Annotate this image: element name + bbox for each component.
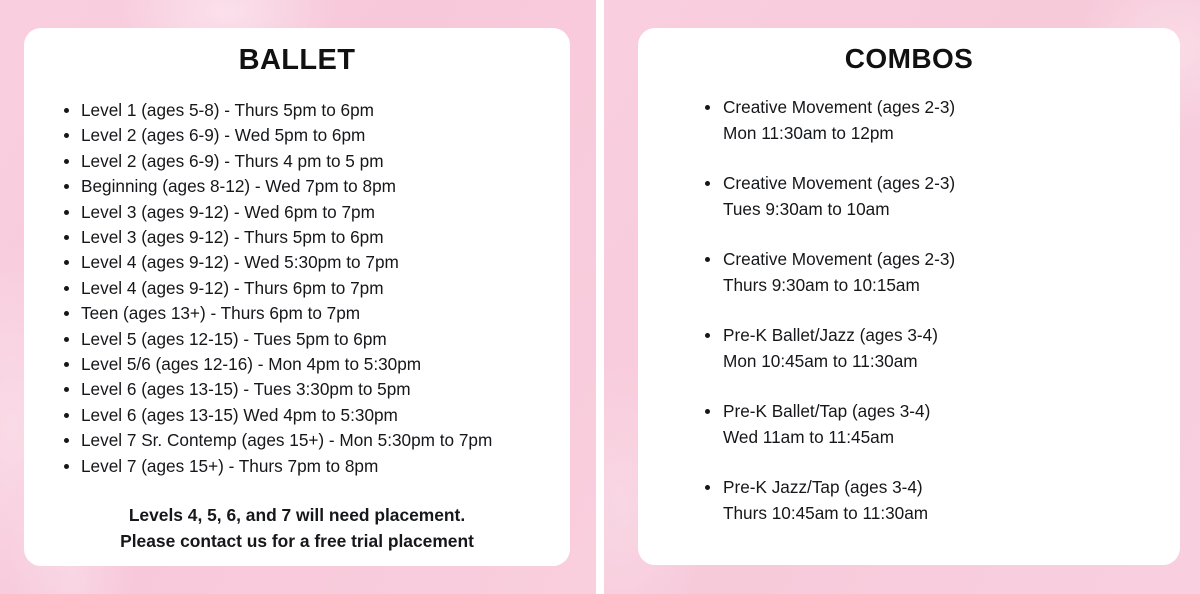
list-item: Level 3 (ages 9-12) - Wed 6pm to 7pm xyxy=(57,200,557,225)
class-time: Wed 11am to 11:45am xyxy=(723,424,1137,450)
list-item: Level 7 (ages 15+) - Thurs 7pm to 8pm xyxy=(57,454,557,479)
ballet-card: BALLET Level 1 (ages 5-8) - Thurs 5pm to… xyxy=(24,28,570,566)
list-item: Creative Movement (ages 2-3) Tues 9:30am… xyxy=(697,170,1137,222)
bullet-icon xyxy=(64,311,69,316)
bullet-icon xyxy=(64,260,69,265)
list-item: Level 6 (ages 13-15) Wed 4pm to 5:30pm xyxy=(57,403,557,428)
class-time: Tues 9:30am to 10am xyxy=(723,196,1137,222)
class-time: Mon 10:45am to 11:30am xyxy=(723,348,1137,374)
bullet-icon xyxy=(64,184,69,189)
class-time: Thurs 9:30am to 10:15am xyxy=(723,272,1137,298)
list-item: Level 4 (ages 9-12) - Wed 5:30pm to 7pm xyxy=(57,250,557,275)
bullet-icon xyxy=(64,438,69,443)
class-entry: Level 2 (ages 6-9) - Wed 5pm to 6pm xyxy=(81,125,365,145)
list-item: Beginning (ages 8-12) - Wed 7pm to 8pm xyxy=(57,174,557,199)
bullet-icon xyxy=(705,409,710,414)
bullet-icon xyxy=(64,362,69,367)
bullet-icon xyxy=(64,108,69,113)
list-item: Level 5 (ages 12-15) - Tues 5pm to 6pm xyxy=(57,327,557,352)
list-item: Level 5/6 (ages 12-16) - Mon 4pm to 5:30… xyxy=(57,352,557,377)
list-item: Creative Movement (ages 2-3) Thurs 9:30a… xyxy=(697,246,1137,298)
class-name: Creative Movement (ages 2-3) xyxy=(723,246,1137,272)
schedule-slides: BALLET Level 1 (ages 5-8) - Thurs 5pm to… xyxy=(0,0,1200,594)
list-item: Level 1 (ages 5-8) - Thurs 5pm to 6pm xyxy=(57,98,557,123)
bullet-icon xyxy=(705,181,710,186)
bullet-icon xyxy=(705,257,710,262)
bullet-icon xyxy=(705,105,710,110)
list-item: Level 3 (ages 9-12) - Thurs 5pm to 6pm xyxy=(57,225,557,250)
bullet-icon xyxy=(64,159,69,164)
list-item: Level 6 (ages 13-15) - Tues 3:30pm to 5p… xyxy=(57,377,557,402)
list-item: Level 4 (ages 9-12) - Thurs 6pm to 7pm xyxy=(57,276,557,301)
list-item: Teen (ages 13+) - Thurs 6pm to 7pm xyxy=(57,301,557,326)
combos-title: COMBOS xyxy=(638,45,1180,73)
class-name: Creative Movement (ages 2-3) xyxy=(723,170,1137,196)
class-entry: Level 2 (ages 6-9) - Thurs 4 pm to 5 pm xyxy=(81,151,384,171)
bullet-icon xyxy=(705,485,710,490)
class-entry: Level 3 (ages 9-12) - Wed 6pm to 7pm xyxy=(81,202,375,222)
slide-divider xyxy=(596,0,604,594)
placement-note-line-2: Please contact us for a free trial place… xyxy=(24,528,570,554)
class-entry: Level 7 Sr. Contemp (ages 15+) - Mon 5:3… xyxy=(81,430,492,450)
list-item: Pre-K Ballet/Tap (ages 3-4) Wed 11am to … xyxy=(697,398,1137,450)
combos-class-list: Creative Movement (ages 2-3) Mon 11:30am… xyxy=(697,94,1137,550)
bullet-icon xyxy=(705,333,710,338)
class-entry: Level 4 (ages 9-12) - Thurs 6pm to 7pm xyxy=(81,278,384,298)
list-item: Pre-K Jazz/Tap (ages 3-4) Thurs 10:45am … xyxy=(697,474,1137,526)
list-item: Pre-K Ballet/Jazz (ages 3-4) Mon 10:45am… xyxy=(697,322,1137,374)
class-entry: Beginning (ages 8-12) - Wed 7pm to 8pm xyxy=(81,176,396,196)
ballet-title: BALLET xyxy=(24,46,570,75)
slide-ballet: BALLET Level 1 (ages 5-8) - Thurs 5pm to… xyxy=(0,0,596,594)
list-item: Level 2 (ages 6-9) - Wed 5pm to 6pm xyxy=(57,123,557,148)
class-entry: Level 5/6 (ages 12-16) - Mon 4pm to 5:30… xyxy=(81,354,421,374)
class-entry: Level 5 (ages 12-15) - Tues 5pm to 6pm xyxy=(81,329,387,349)
ballet-placement-note: Levels 4, 5, 6, and 7 will need placemen… xyxy=(24,502,570,554)
class-entry: Level 6 (ages 13-15) - Tues 3:30pm to 5p… xyxy=(81,379,411,399)
class-entry: Teen (ages 13+) - Thurs 6pm to 7pm xyxy=(81,303,360,323)
list-item: Level 7 Sr. Contemp (ages 15+) - Mon 5:3… xyxy=(57,428,557,453)
bullet-icon xyxy=(64,413,69,418)
class-time: Mon 11:30am to 12pm xyxy=(723,120,1137,146)
class-time: Thurs 10:45am to 11:30am xyxy=(723,500,1137,526)
class-name: Pre-K Ballet/Tap (ages 3-4) xyxy=(723,398,1137,424)
bullet-icon xyxy=(64,286,69,291)
class-entry: Level 3 (ages 9-12) - Thurs 5pm to 6pm xyxy=(81,227,384,247)
bullet-icon xyxy=(64,235,69,240)
placement-note-line-1: Levels 4, 5, 6, and 7 will need placemen… xyxy=(24,502,570,528)
class-entry: Level 7 (ages 15+) - Thurs 7pm to 8pm xyxy=(81,456,378,476)
list-item: Creative Movement (ages 2-3) Mon 11:30am… xyxy=(697,94,1137,146)
bullet-icon xyxy=(64,133,69,138)
slide-combos: COMBOS Creative Movement (ages 2-3) Mon … xyxy=(604,0,1200,594)
bullet-icon xyxy=(64,337,69,342)
class-entry: Level 1 (ages 5-8) - Thurs 5pm to 6pm xyxy=(81,100,374,120)
bullet-icon xyxy=(64,464,69,469)
bullet-icon xyxy=(64,210,69,215)
ballet-class-list: Level 1 (ages 5-8) - Thurs 5pm to 6pm Le… xyxy=(57,98,557,479)
bullet-icon xyxy=(64,387,69,392)
class-entry: Level 6 (ages 13-15) Wed 4pm to 5:30pm xyxy=(81,405,398,425)
combos-card: COMBOS Creative Movement (ages 2-3) Mon … xyxy=(638,28,1180,565)
class-name: Pre-K Ballet/Jazz (ages 3-4) xyxy=(723,322,1137,348)
class-entry: Level 4 (ages 9-12) - Wed 5:30pm to 7pm xyxy=(81,252,399,272)
list-item: Level 2 (ages 6-9) - Thurs 4 pm to 5 pm xyxy=(57,149,557,174)
class-name: Creative Movement (ages 2-3) xyxy=(723,94,1137,120)
class-name: Pre-K Jazz/Tap (ages 3-4) xyxy=(723,474,1137,500)
